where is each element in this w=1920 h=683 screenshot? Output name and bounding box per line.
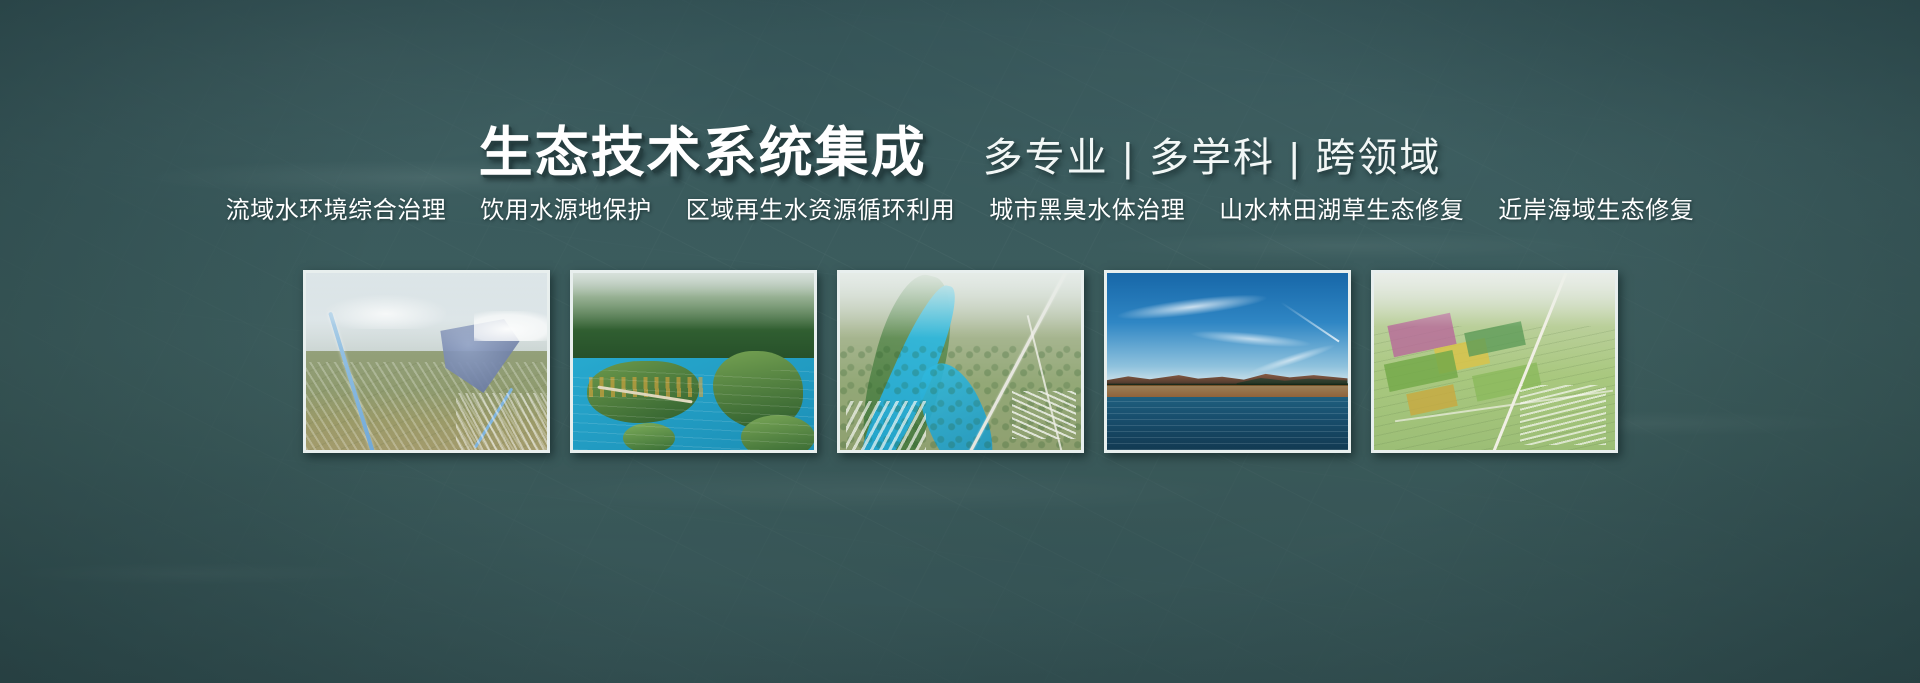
subtitle-separator-2: |: [1275, 136, 1315, 180]
hero-banner: 生态技术系统集成 多专业|多学科|跨领域 流域水环境综合治理 饮用水源地保护 区…: [0, 0, 1920, 683]
village-cluster: [1520, 385, 1606, 445]
subtitle-separator-1: |: [1109, 136, 1149, 180]
tagline-item-2: 饮用水源地保护: [463, 190, 669, 225]
thumbnail-image-4: [1107, 273, 1348, 450]
tagline-item-5: 山水林田湖草生态修复: [1202, 190, 1481, 225]
thumbnail-gallery: [0, 270, 1920, 453]
tagline-item-1: 流域水环境综合治理: [209, 190, 464, 225]
water-reflection: [1107, 397, 1348, 450]
thumbnail-watershed-aerial-lake[interactable]: [303, 270, 550, 453]
thumbnail-image-5: [1374, 273, 1615, 450]
haze-overlay: [306, 273, 547, 450]
sky-layer: [1107, 273, 1348, 383]
thumbnail-restored-farmland-mosaic[interactable]: [1371, 270, 1618, 453]
page-subtitle: 多专业|多学科|跨领域: [983, 125, 1442, 183]
thumbnail-image-1: [306, 273, 547, 450]
headline-row: 生态技术系统集成 多专业|多学科|跨领域: [0, 108, 1920, 187]
banner-content: 生态技术系统集成 多专业|多学科|跨领域 流域水环境综合治理 饮用水源地保护 区…: [0, 0, 1920, 683]
tagline-item-4: 城市黑臭水体治理: [972, 190, 1202, 225]
field-parcels: [846, 401, 926, 450]
subtitle-part-1: 多专业: [983, 136, 1109, 180]
thumbnail-image-3: [840, 273, 1081, 450]
subtitle-part-2: 多学科: [1149, 136, 1275, 180]
haze-overlay: [1374, 273, 1615, 333]
shoreline-band: [1107, 385, 1348, 397]
subtitle-part-3: 跨领域: [1315, 136, 1441, 180]
thumbnail-mountain-lake-reflection[interactable]: [1104, 270, 1351, 453]
haze-overlay: [573, 273, 814, 340]
thumbnail-forested-reservoir-islands[interactable]: [570, 270, 817, 453]
page-title: 生态技术系统集成: [479, 108, 927, 187]
thumbnail-image-2: [573, 273, 814, 450]
haze-overlay: [840, 273, 1081, 347]
town-cluster: [1012, 391, 1076, 439]
water-ripples: [573, 370, 814, 450]
tagline-row: 流域水环境综合治理 饮用水源地保护 区域再生水资源循环利用 城市黑臭水体治理 山…: [0, 190, 1920, 225]
tagline-item-6: 近岸海域生态修复: [1481, 190, 1711, 225]
tagline-item-3: 区域再生水资源循环利用: [669, 190, 973, 225]
thumbnail-river-corridor-greenway[interactable]: [837, 270, 1084, 453]
